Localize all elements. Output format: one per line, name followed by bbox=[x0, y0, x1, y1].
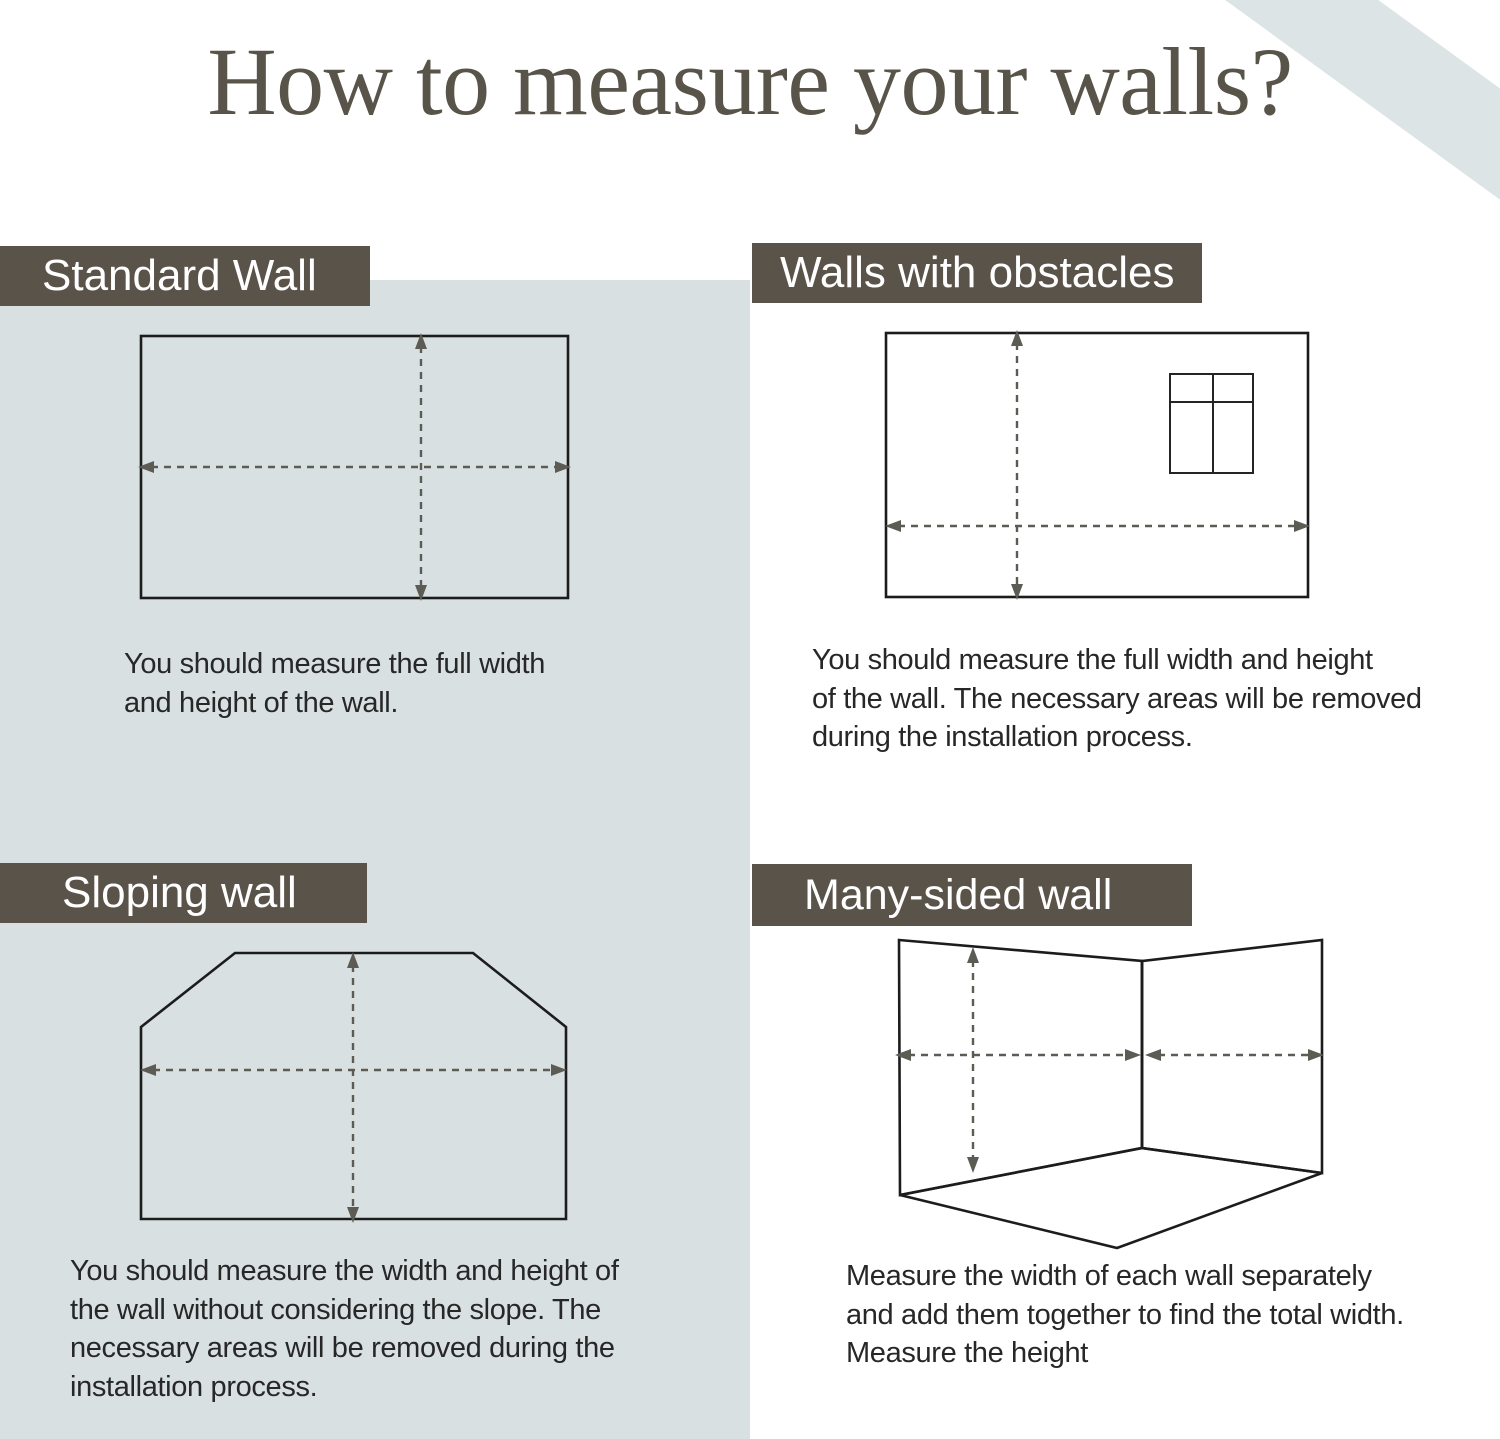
caption-sloping-wall: You should measure the width and height … bbox=[70, 1252, 690, 1406]
diagram-sloping-wall bbox=[110, 930, 610, 1240]
floor-face bbox=[900, 1148, 1322, 1248]
width-dimension-arrow-right-wall bbox=[1145, 1049, 1324, 1061]
section-heading-walls-with-obstacles: Walls with obstacles bbox=[752, 243, 1202, 303]
height-dimension-arrow bbox=[347, 952, 359, 1223]
caption-walls-with-obstacles: You should measure the full width and he… bbox=[812, 641, 1472, 757]
caption-many-sided-wall: Measure the width of each wall separatel… bbox=[846, 1257, 1476, 1373]
width-dimension-arrow bbox=[885, 520, 1310, 532]
page-title: How to measure your walls? bbox=[0, 28, 1500, 136]
diagram-standard-wall bbox=[100, 300, 620, 630]
width-dimension-arrow bbox=[138, 461, 571, 473]
infographic-root: How to measure your walls? Standard Wall… bbox=[0, 0, 1500, 1439]
section-heading-sloping-wall: Sloping wall bbox=[0, 863, 367, 923]
diagram-walls-with-obstacles bbox=[860, 300, 1340, 630]
section-heading-standard-wall: Standard Wall bbox=[0, 246, 370, 306]
left-wall-face bbox=[899, 940, 1142, 1195]
height-dimension-arrow bbox=[1011, 330, 1023, 600]
caption-standard-wall: You should measure the full width and he… bbox=[124, 645, 644, 722]
section-heading-many-sided-wall: Many-sided wall bbox=[752, 864, 1192, 926]
height-dimension-arrow bbox=[967, 947, 979, 1173]
diagram-many-sided-wall bbox=[870, 920, 1350, 1270]
window-icon bbox=[1170, 374, 1253, 473]
width-dimension-arrow-left-wall bbox=[895, 1049, 1141, 1061]
wall-rectangle bbox=[886, 333, 1308, 597]
right-wall-face bbox=[1142, 940, 1322, 1173]
